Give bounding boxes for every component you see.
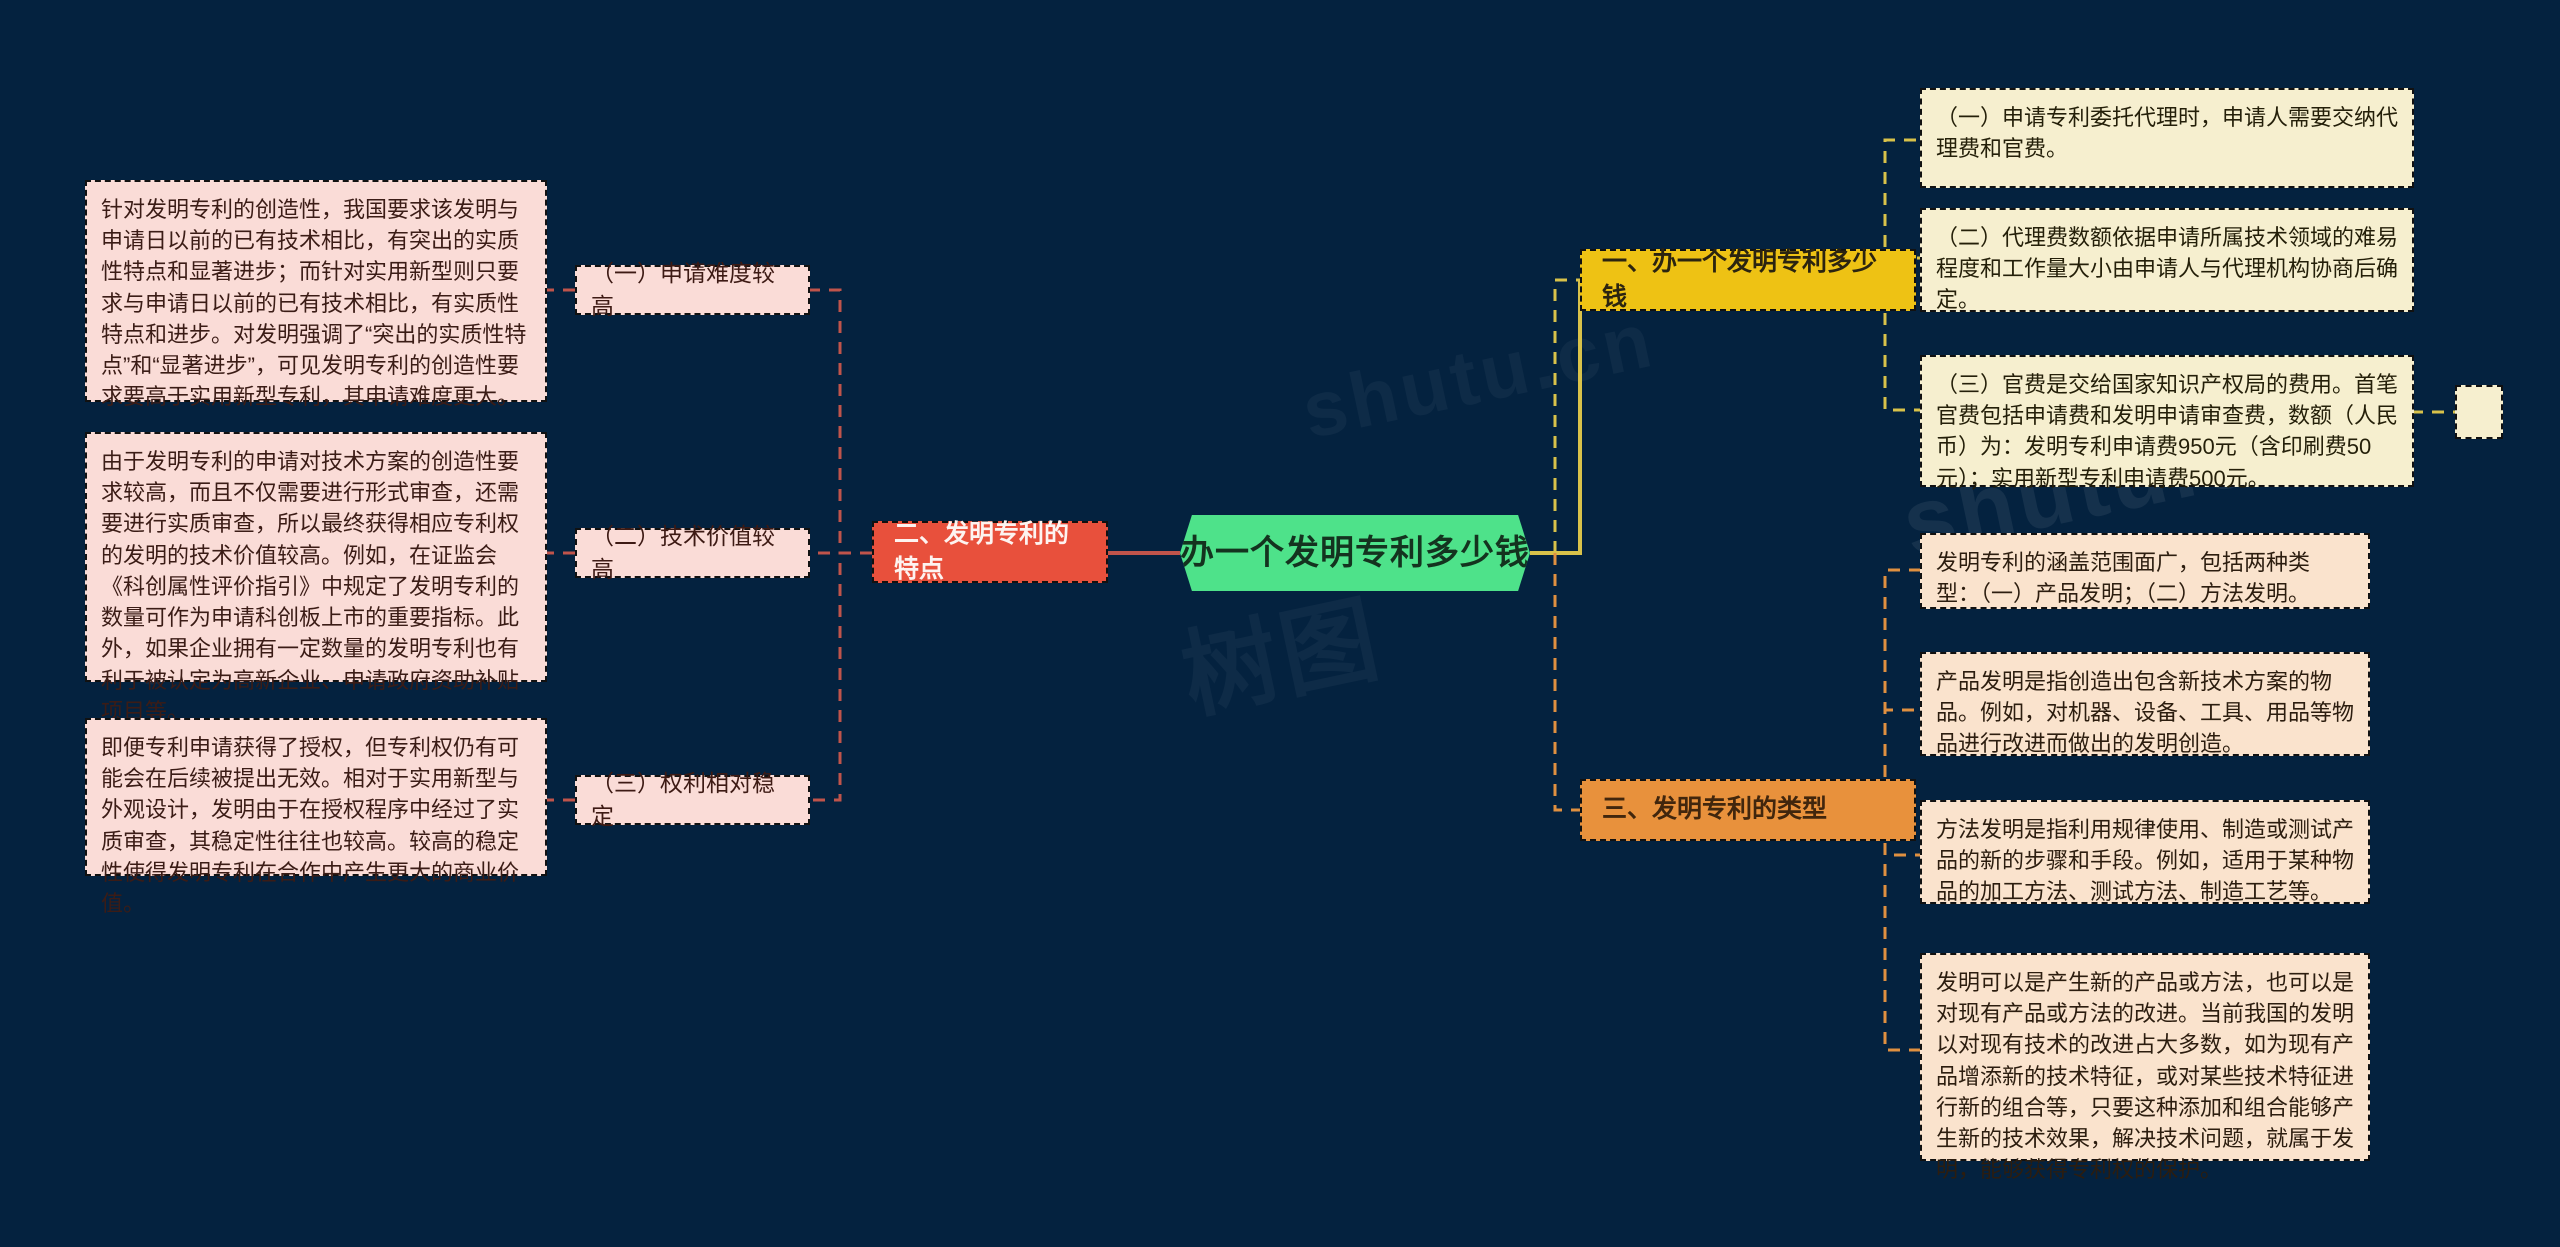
cost-official-fee-text: （三）官费是交给国家知识产权局的费用。首笔官费包括申请费和发明申请审查费，数额（… [1936,369,2398,494]
type-product[interactable]: 产品发明是指创造出包含新技术方案的物品。例如，对机器、设备、工具、用品等物品进行… [1920,652,2370,756]
link-features-sub3 [810,553,872,800]
topic-types[interactable]: 三、发明专利的类型 [1580,779,1916,841]
topic-cost-label: 一、办一个发明专利多少钱 [1602,245,1894,316]
cost-agent-amount[interactable]: （二）代理费数额依据申请所属技术领域的难易程度和工作量大小由申请人与代理机构协商… [1920,208,2414,312]
subtopic-value-label: （二）技术价值较高 [591,520,794,585]
detail-difficulty[interactable]: 针对发明专利的创造性，我国要求该发明与申请日以前的已有技术相比，有突出的实质性特… [85,180,547,402]
subtopic-difficulty-label: （一）申请难度较高 [591,257,794,322]
type-product-text: 产品发明是指创造出包含新技术方案的物品。例如，对机器、设备、工具、用品等物品进行… [1936,666,2354,760]
subtopic-stability[interactable]: （三）权利相对稳定 [575,775,810,825]
link-root-cost-stub [1530,280,1580,553]
root-node-label: 办一个发明专利多少钱 [1180,529,1530,577]
topic-features-label: 二、发明专利的特点 [894,517,1086,588]
link-features-sub1 [810,290,872,553]
cost-agent-fee-text: （一）申请专利委托代理时，申请人需要交纳代理费和官费。 [1936,102,2398,164]
subtopic-value[interactable]: （二）技术价值较高 [575,528,810,578]
detail-value-text: 由于发明专利的申请对技术方案的创造性要求较高，而且不仅需要进行形式审查，还需要进… [101,446,531,727]
type-method-text: 方法发明是指利用规律使用、制造或测试产品的新的步骤和手段。例如，适用于某种物品的… [1936,814,2354,908]
link-type-d1 [1885,570,1920,810]
type-method[interactable]: 方法发明是指利用规律使用、制造或测试产品的新的步骤和手段。例如，适用于某种物品的… [1920,800,2370,904]
detail-stability[interactable]: 即便专利申请获得了授权，但专利权仍有可能会在后续被提出无效。相对于实用新型与外观… [85,718,547,876]
link-type-d4 [1885,810,1920,1050]
link-root-types [1555,553,1580,810]
watermark: shutu.cn [1294,294,1662,457]
type-overview-text: 发明专利的涵盖范围面广，包括两种类型：（一）产品发明；（二）方法发明。 [1936,547,2354,609]
topic-features[interactable]: 二、发明专利的特点 [872,521,1108,583]
topic-types-label: 三、发明专利的类型 [1602,792,1827,828]
root-node[interactable]: 办一个发明专利多少钱 [1180,515,1530,591]
link-root-cost [1555,280,1580,553]
detail-value[interactable]: 由于发明专利的申请对技术方案的创造性要求较高，而且不仅需要进行形式审查，还需要进… [85,432,547,682]
type-improvement-text: 发明可以是产生新的产品或方法，也可以是对现有产品或方法的改进。当前我国的发明以对… [1936,967,2354,1186]
type-overview[interactable]: 发明专利的涵盖范围面广，包括两种类型：（一）产品发明；（二）方法发明。 [1920,533,2370,609]
subtopic-difficulty[interactable]: （一）申请难度较高 [575,265,810,315]
cost-blank-note[interactable] [2455,385,2503,439]
detail-stability-text: 即便专利申请获得了授权，但专利权仍有可能会在后续被提出无效。相对于实用新型与外观… [101,732,531,919]
cost-official-fee[interactable]: （三）官费是交给国家知识产权局的费用。首笔官费包括申请费和发明申请审查费，数额（… [1920,355,2414,487]
cost-agent-amount-text: （二）代理费数额依据申请所属技术领域的难易程度和工作量大小由申请人与代理机构协商… [1936,222,2398,316]
mindmap-canvas: shutu.cn 树图 shutu.cn shutu.cn [0,0,2560,1247]
subtopic-stability-label: （三）权利相对稳定 [591,767,794,832]
detail-difficulty-text: 针对发明专利的创造性，我国要求该发明与申请日以前的已有技术相比，有突出的实质性特… [101,194,531,413]
cost-agent-fee[interactable]: （一）申请专利委托代理时，申请人需要交纳代理费和官费。 [1920,88,2414,188]
topic-cost[interactable]: 一、办一个发明专利多少钱 [1580,249,1916,311]
type-improvement[interactable]: 发明可以是产生新的产品或方法，也可以是对现有产品或方法的改进。当前我国的发明以对… [1920,953,2370,1161]
